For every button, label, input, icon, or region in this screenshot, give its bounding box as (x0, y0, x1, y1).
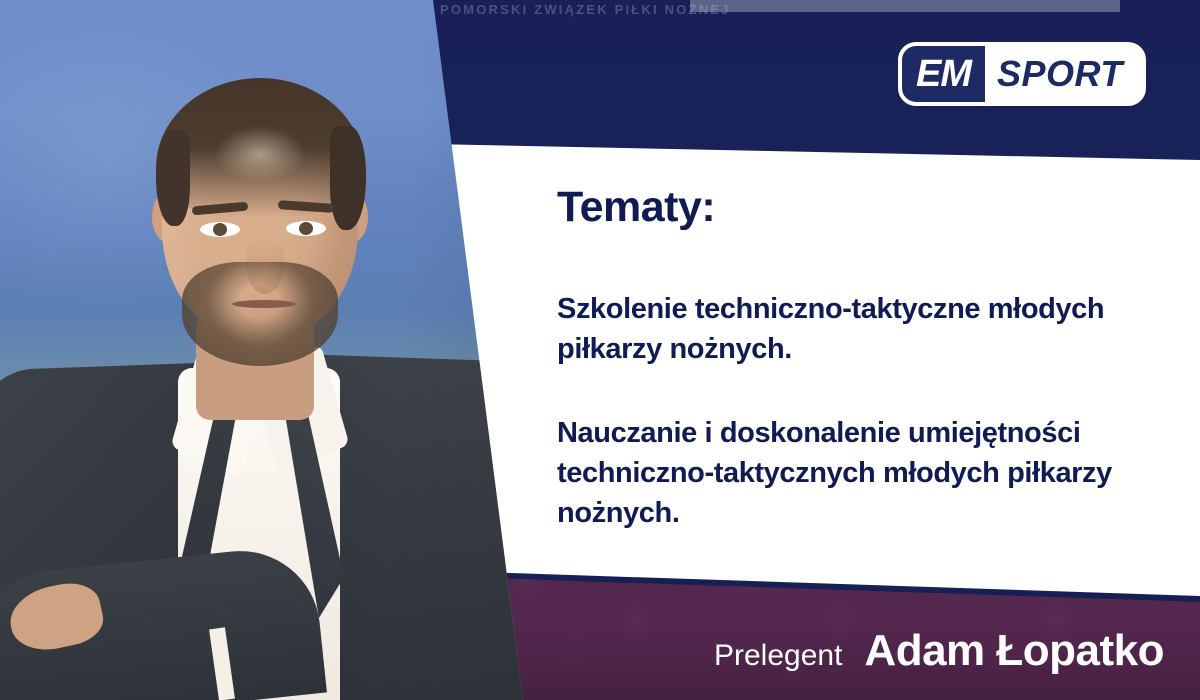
logo-sport-text: SPORT (985, 46, 1139, 102)
emsport-logo[interactable]: EM SPORT (898, 42, 1146, 106)
speaker-credit: Prelegent Adam Łopatko (714, 626, 1164, 676)
logo-em-text: EM (902, 46, 985, 102)
speaker-label: Prelegent (714, 639, 842, 673)
portrait-mouth (232, 300, 296, 308)
portrait-hair-side-right (330, 126, 366, 230)
speaker-name: Adam Łopatko (864, 626, 1164, 676)
portrait-eye-right (286, 221, 326, 236)
topic-item-2: Nauczanie i doskonalenie umiejętności te… (557, 413, 1187, 533)
portrait-forehead-highlight (214, 126, 306, 182)
portrait-beard (182, 262, 338, 366)
portrait-eye-left (200, 222, 240, 237)
topic-item-1: Szkolenie techniczno-taktyczne młodych p… (557, 289, 1187, 369)
presentation-slide: POMORSKI ZWIĄZEK PIŁKI NOŻNEJ POMORSKI Z… (0, 0, 1200, 700)
federation-banner-text-top: POMORSKI ZWIĄZEK PIŁKI NOŻNEJ (440, 2, 1200, 24)
portrait-hair-side-left (156, 130, 190, 226)
slide-content: Tematy: Szkolenie techniczno-taktyczne m… (557, 184, 1187, 533)
page-title: Tematy: (557, 184, 1187, 231)
